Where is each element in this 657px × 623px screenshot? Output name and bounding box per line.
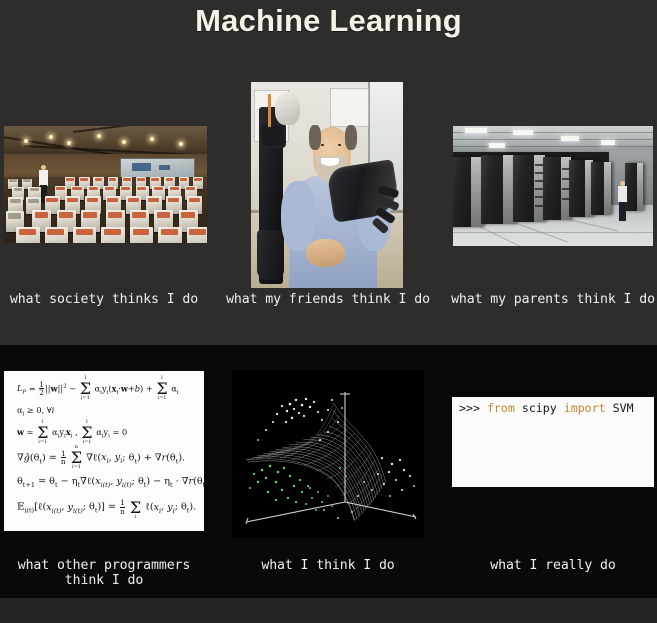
decision-surface-svg xyxy=(232,370,424,538)
person-body xyxy=(618,186,627,202)
equation-alpha-constraint: αi ≥ 0, ∀i xyxy=(17,406,195,418)
ceiling-tile-line xyxy=(453,146,653,147)
caption-friends: what my friends think I do xyxy=(226,292,430,307)
caption-parents: what my parents think I do xyxy=(451,292,655,307)
equation-gradient-estimate: ∇ĝ(θt) = 1n Σni=1 ∇ℓ(xi, yi; θt) + ∇r(θt… xyxy=(17,450,195,466)
console-prompt: >>> xyxy=(459,401,480,415)
projection-screen xyxy=(120,158,195,180)
meme-image: Machine Learning xyxy=(0,0,657,623)
ceiling-light xyxy=(513,130,533,135)
man-clasped-hands xyxy=(306,239,346,268)
floor-panel-line xyxy=(453,232,653,233)
man-hair-right xyxy=(345,125,357,150)
hall-of-machines-photo xyxy=(4,126,207,243)
keyword-import: import xyxy=(564,401,606,415)
machine-unit xyxy=(73,227,96,243)
man-hair-left xyxy=(309,125,321,150)
caption-other-programmers: what other programmers think I do xyxy=(2,558,206,588)
robot-joint xyxy=(260,123,286,148)
rack-front-panel xyxy=(637,163,643,211)
server-rack xyxy=(591,162,611,215)
robot-antenna xyxy=(268,94,271,127)
imported-symbol: SVM xyxy=(613,401,634,415)
ceiling-light xyxy=(561,136,579,141)
person-body xyxy=(39,170,48,186)
caption-i-really-do: what I really do xyxy=(451,558,655,573)
machine-unit xyxy=(130,227,153,243)
python-console-panel: >>> from scipy import SVM xyxy=(452,397,654,487)
machine-unit xyxy=(187,227,207,243)
background-band-footer xyxy=(0,598,657,623)
ceiling-lamp xyxy=(122,140,126,144)
server-rack xyxy=(625,163,643,211)
server-rack xyxy=(453,157,483,227)
window-pane xyxy=(330,88,368,127)
ceiling-light xyxy=(601,140,615,145)
supercomputer-room-photo xyxy=(453,126,653,246)
module-name: scipy xyxy=(522,401,557,415)
machine-unit xyxy=(158,227,181,243)
server-rack xyxy=(513,155,545,222)
screen-shape xyxy=(132,163,151,171)
man-eye-left xyxy=(321,144,324,146)
robot-head xyxy=(275,92,299,125)
person-legs xyxy=(619,202,626,221)
equation-expectation: 𝔼i(t)[ℓ(xi(t), yi(t); θt)] = 1n Σi ℓ(xi,… xyxy=(17,499,195,515)
caption-society: what society thinks I do xyxy=(2,292,206,307)
man-with-robot-arm-photo xyxy=(251,82,403,288)
keyword-from: from xyxy=(487,401,515,415)
person-standing xyxy=(618,181,627,221)
server-rack xyxy=(543,157,571,219)
man-eye-right xyxy=(338,144,341,146)
server-rack xyxy=(569,160,593,218)
man-shoulder-left xyxy=(281,181,314,251)
ceiling-light xyxy=(489,143,505,148)
equation-w-expansion: w = Σli=1 αiyixi , Σli=1 αiyi = 0 xyxy=(17,427,195,440)
3d-decision-surface-plot xyxy=(232,370,424,538)
screen-shape xyxy=(159,165,171,171)
math-equations-panel: LP = 12||w||2 − Σli=1 αiyi(xi·w+b) + Σli… xyxy=(4,371,204,531)
ceiling-tile-line xyxy=(453,139,653,140)
caption-i-think: what I think I do xyxy=(226,558,430,573)
server-rack xyxy=(481,155,515,225)
equation-lagrangian: LP = 12||w||2 − Σli=1 αiyi(xi·w+b) + Σli… xyxy=(17,381,195,397)
machine-unit xyxy=(101,227,124,243)
robot-lower-arm xyxy=(257,230,284,279)
rack-front-panel xyxy=(604,162,611,215)
ceiling-lamp xyxy=(150,137,154,141)
machine-unit xyxy=(45,227,68,243)
page-title: Machine Learning xyxy=(0,3,657,39)
equation-sgd-update: θt+1 = θt − ηt∇ℓ(xi(t), yi(t); θt) − ηt … xyxy=(17,477,195,489)
machine-unit xyxy=(16,227,39,243)
ceiling-light xyxy=(465,128,487,133)
